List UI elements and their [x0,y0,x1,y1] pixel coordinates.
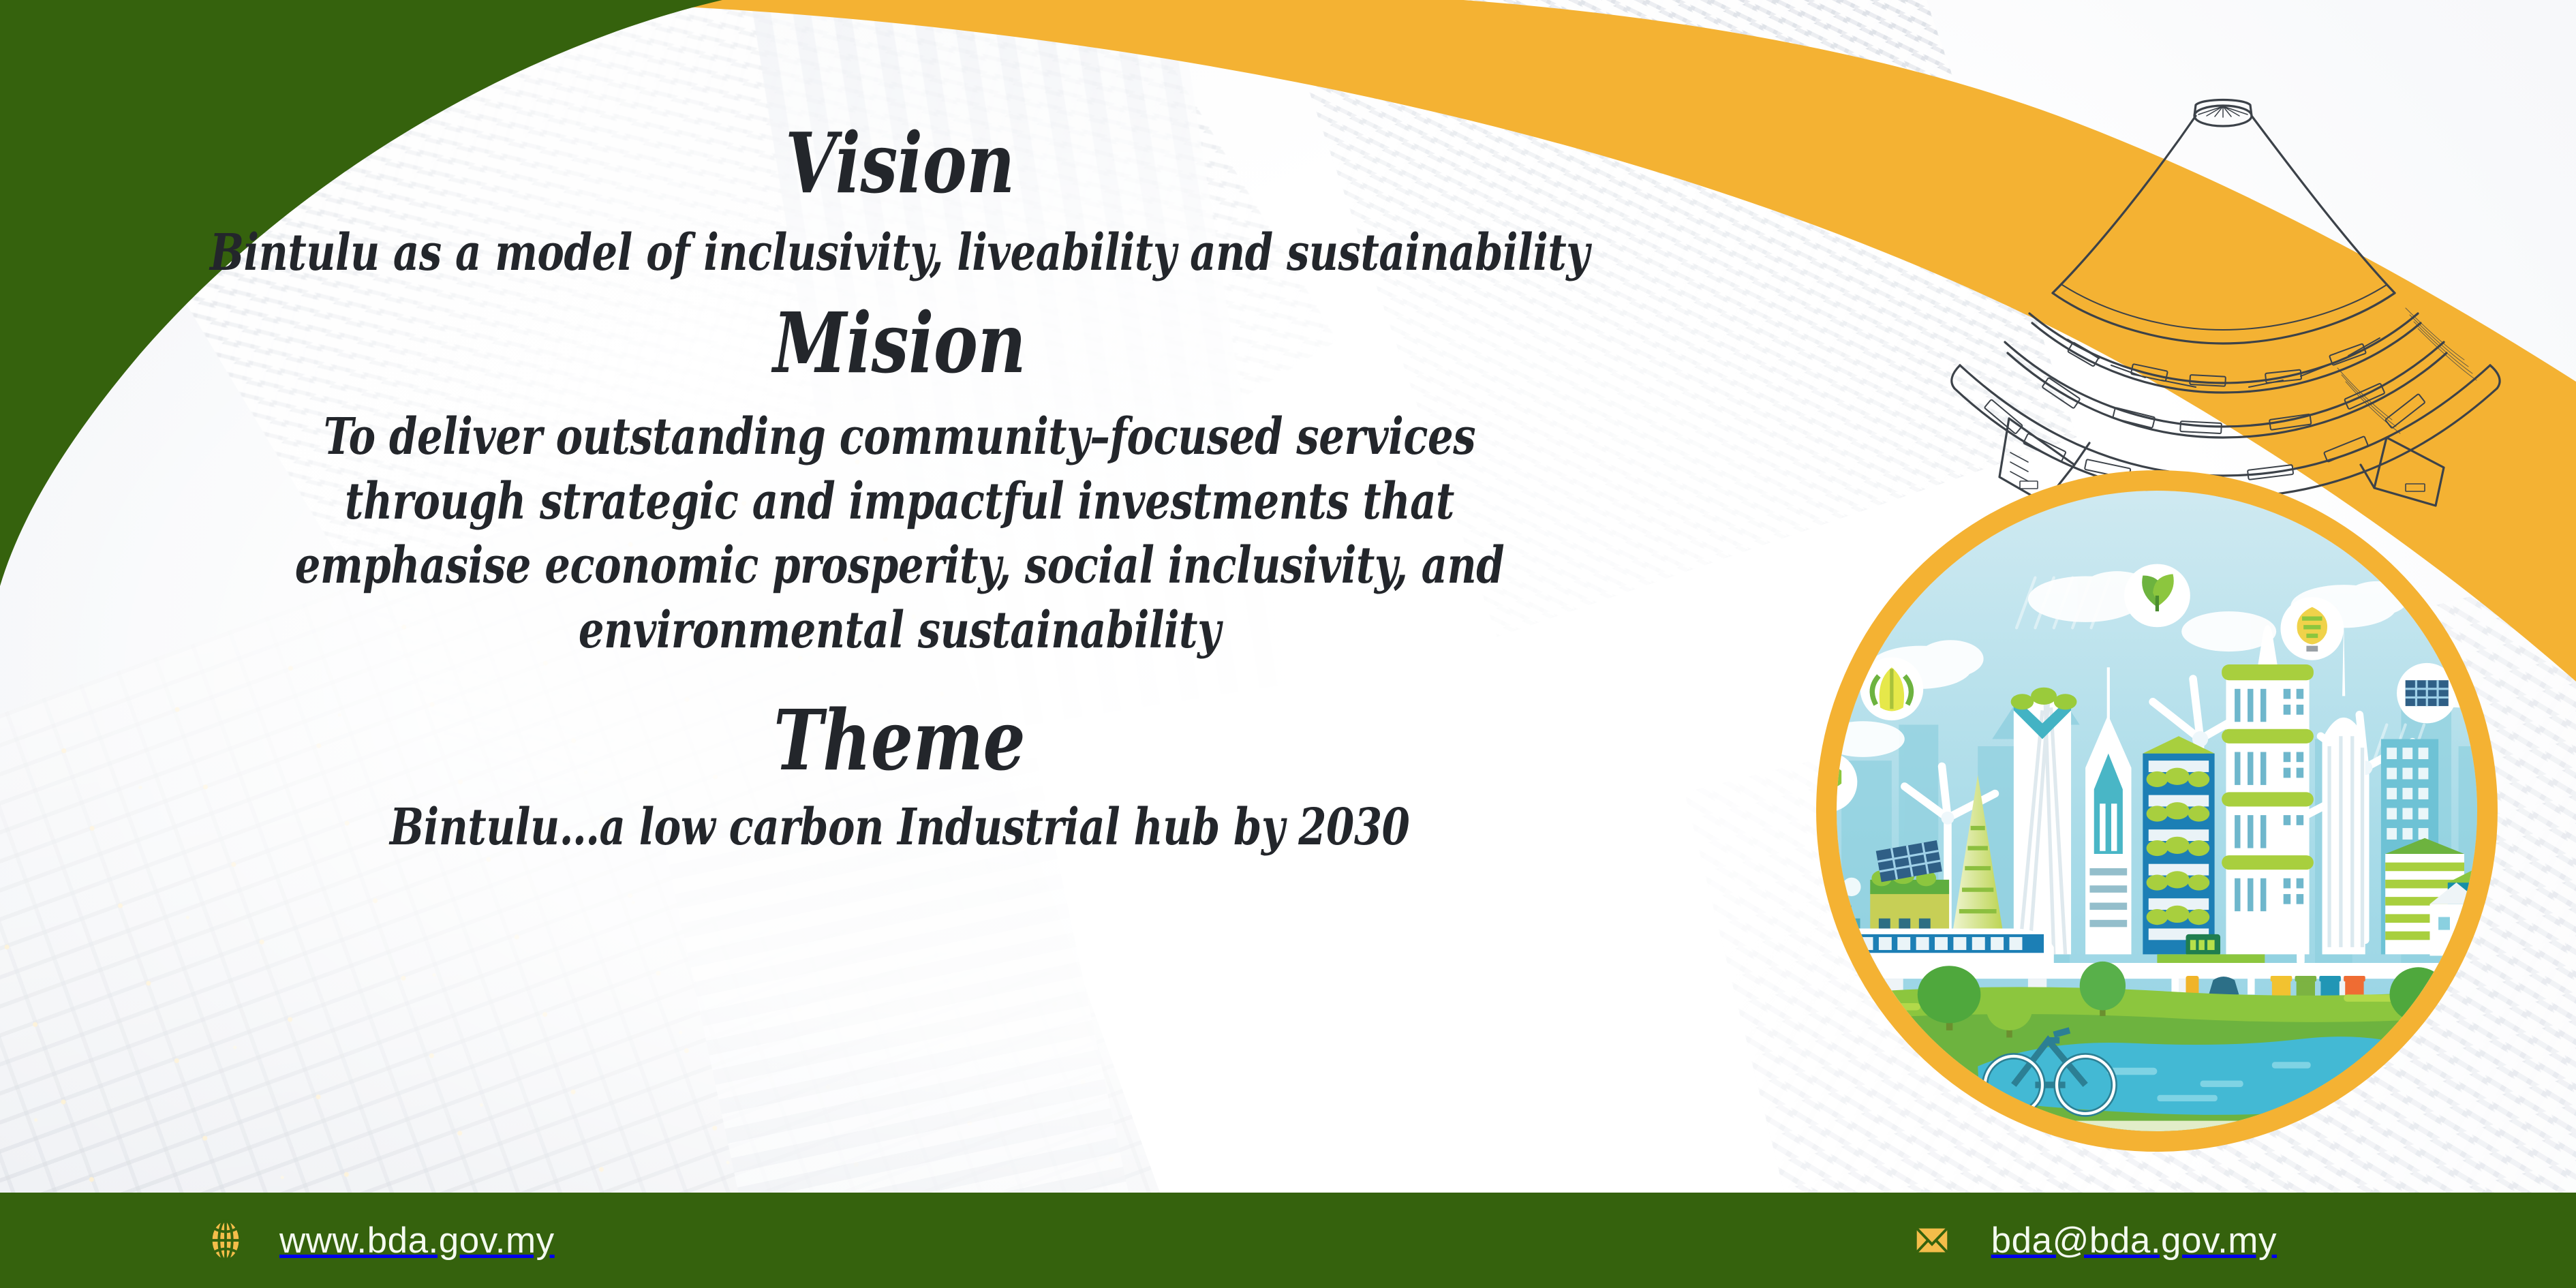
theme-statement: Bintulu…a low carbon Industrial hub by 2… [390,802,1409,853]
globe-icon [204,1219,247,1261]
envelope-icon-svg [1911,1219,1953,1261]
website-link[interactable]: www.bda.gov.my [204,1219,555,1261]
vision-section: Vision Bintulu as a model of inclusivity… [37,121,1762,278]
email-link[interactable]: bda@bda.gov.my [1911,1219,2277,1261]
text-content: Vision Bintulu as a model of inclusivity… [0,0,1799,1193]
theme-heading: Theme [773,699,1025,782]
globe-icon-svg [204,1219,247,1261]
envelope-icon [1911,1219,1953,1261]
eco-city-circle [1816,470,2498,1152]
website-label: www.bda.gov.my [279,1220,555,1261]
email-label: bda@bda.gov.my [1991,1220,2277,1261]
mission-section: Mision To deliver outstanding community–… [116,301,1683,663]
vision-heading: Vision [785,121,1015,204]
banner-canvas: Vision Bintulu as a model of inclusivity… [0,0,2576,1288]
theme-section: Theme Bintulu…a low carbon Industrial hu… [262,699,1537,853]
mission-heading: Mision [773,301,1026,384]
mission-statement: To deliver outstanding community–focused… [273,405,1527,663]
building-line-art-svg [1929,89,2576,511]
eco-green-city-illustration [1837,491,2477,1131]
eco-city-image-clip [1837,491,2477,1131]
tiered-conical-building-line-art [1929,89,2576,511]
vision-statement: Bintulu as a model of inclusivity, livea… [210,228,1589,278]
footer-contact-bar: www.bda.gov.my bda@bda.gov.my [0,1193,2576,1288]
